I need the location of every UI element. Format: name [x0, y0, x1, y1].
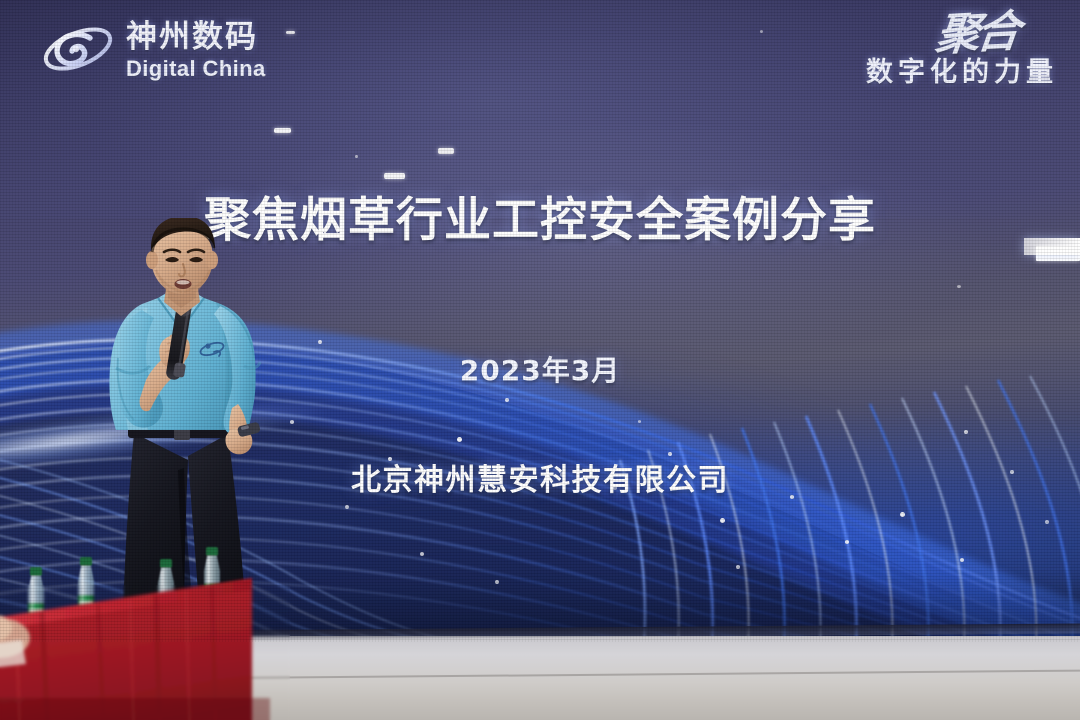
juhe-brand-logo: 聚合 数字化的力量: [866, 14, 1058, 89]
particle: [274, 128, 291, 133]
brush-calligraphy-text: 聚合: [934, 12, 1019, 57]
particle: [286, 31, 295, 34]
particle: [384, 173, 405, 179]
logo-name-cn: 神州数码: [126, 22, 266, 53]
digital-china-swirl-icon: [40, 18, 116, 80]
particle: [355, 155, 358, 158]
head-table: [0, 540, 290, 720]
conference-photo: 神州数码 Digital China 聚合 数字化的力量 聚焦烟草行业工控安全案…: [0, 0, 1080, 720]
logo-name-en: Digital China: [126, 58, 266, 80]
particle: [760, 30, 763, 33]
particle: [957, 285, 961, 288]
digital-china-logo: 神州数码 Digital China: [40, 18, 266, 80]
particle: [438, 148, 454, 154]
